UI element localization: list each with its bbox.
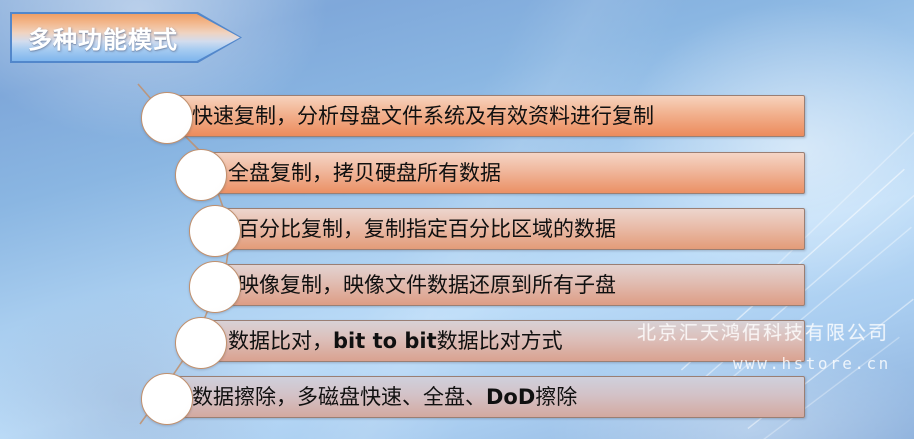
feature-label: 数据比对，bit to bit数据比对方式 <box>228 320 563 362</box>
feature-bullet-circle[interactable] <box>189 261 241 313</box>
feature-label: 快速复制，分析母盘文件系统及有效资料进行复制 <box>192 95 654 137</box>
feature-label-prefix: 数据擦除，多磁盘快速、全盘、 <box>192 385 486 409</box>
light-streak <box>719 226 912 388</box>
page-title: 多种功能模式 <box>28 20 178 55</box>
feature-label: 数据擦除，多磁盘快速、全盘、DoD擦除 <box>192 376 577 418</box>
feature-label: 映像复制，映像文件数据还原到所有子盘 <box>238 264 616 306</box>
title-banner: 多种功能模式 <box>10 12 242 63</box>
feature-label-suffix: 擦除 <box>535 385 577 409</box>
feature-label-emphasis: bit to bit <box>333 329 437 353</box>
feature-bullet-circle[interactable] <box>141 92 193 144</box>
slide-canvas: 多种功能模式 快速复制，分析母盘文件系统及有效资料进行复制 全盘复制，拷贝硬盘所… <box>0 0 914 439</box>
feature-bullet-circle[interactable] <box>175 149 227 201</box>
feature-bullet-circle[interactable] <box>141 373 193 425</box>
feature-label: 全盘复制，拷贝硬盘所有数据 <box>228 152 501 194</box>
feature-label-suffix: 数据比对方式 <box>437 329 563 353</box>
feature-bullet-circle[interactable] <box>189 205 241 257</box>
feature-label-emphasis: DoD <box>486 385 535 409</box>
feature-label-prefix: 数据比对， <box>228 329 333 353</box>
feature-bullet-circle[interactable] <box>175 317 227 369</box>
feature-label: 百分比复制，复制指定百分比区域的数据 <box>238 208 616 250</box>
